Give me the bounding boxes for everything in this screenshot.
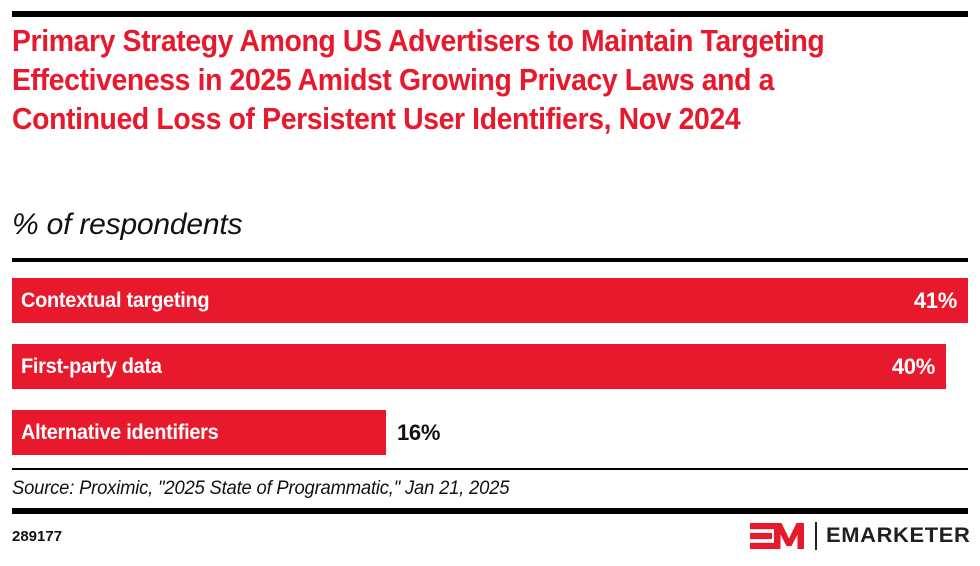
bar-category-label: First-party data [21,355,162,379]
top-rule [12,11,968,17]
emarketer-chart: Primary Strategy Among US Advertisers to… [0,0,980,566]
emarketer-logo[interactable]: EMARKETER [750,521,968,551]
chart-subtitle: % of respondents [12,207,242,243]
bar-fill: Contextual targeting41% [12,278,968,323]
bar-fill: Alternative identifiers [12,410,386,455]
bar-row: First-party data40% [12,344,968,389]
bar-category-label: Contextual targeting [21,289,209,313]
logo-wordmark: EMARKETER [826,525,970,547]
em-monogram-icon [750,522,808,550]
source-top-rule [12,468,968,470]
chart-id: 289177 [12,528,62,545]
bar-value-label: 16% [386,410,440,455]
footer-rule [12,508,968,514]
chart-title: Primary Strategy Among US Advertisers to… [12,22,877,139]
bar-value-label: 40% [892,354,935,380]
header-divider-rule [12,258,968,262]
bar-value-label: 41% [914,288,957,314]
bar-row: Alternative identifiers16% [12,410,968,455]
bar-category-label: Alternative identifiers [21,421,218,445]
bar-row: Contextual targeting41% [12,278,968,323]
bar-fill: First-party data40% [12,344,946,389]
bar-chart-plot-area: Contextual targeting41%First-party data4… [12,278,968,443]
source-note: Source: Proximic, "2025 State of Program… [12,478,509,500]
logo-divider [815,522,818,550]
